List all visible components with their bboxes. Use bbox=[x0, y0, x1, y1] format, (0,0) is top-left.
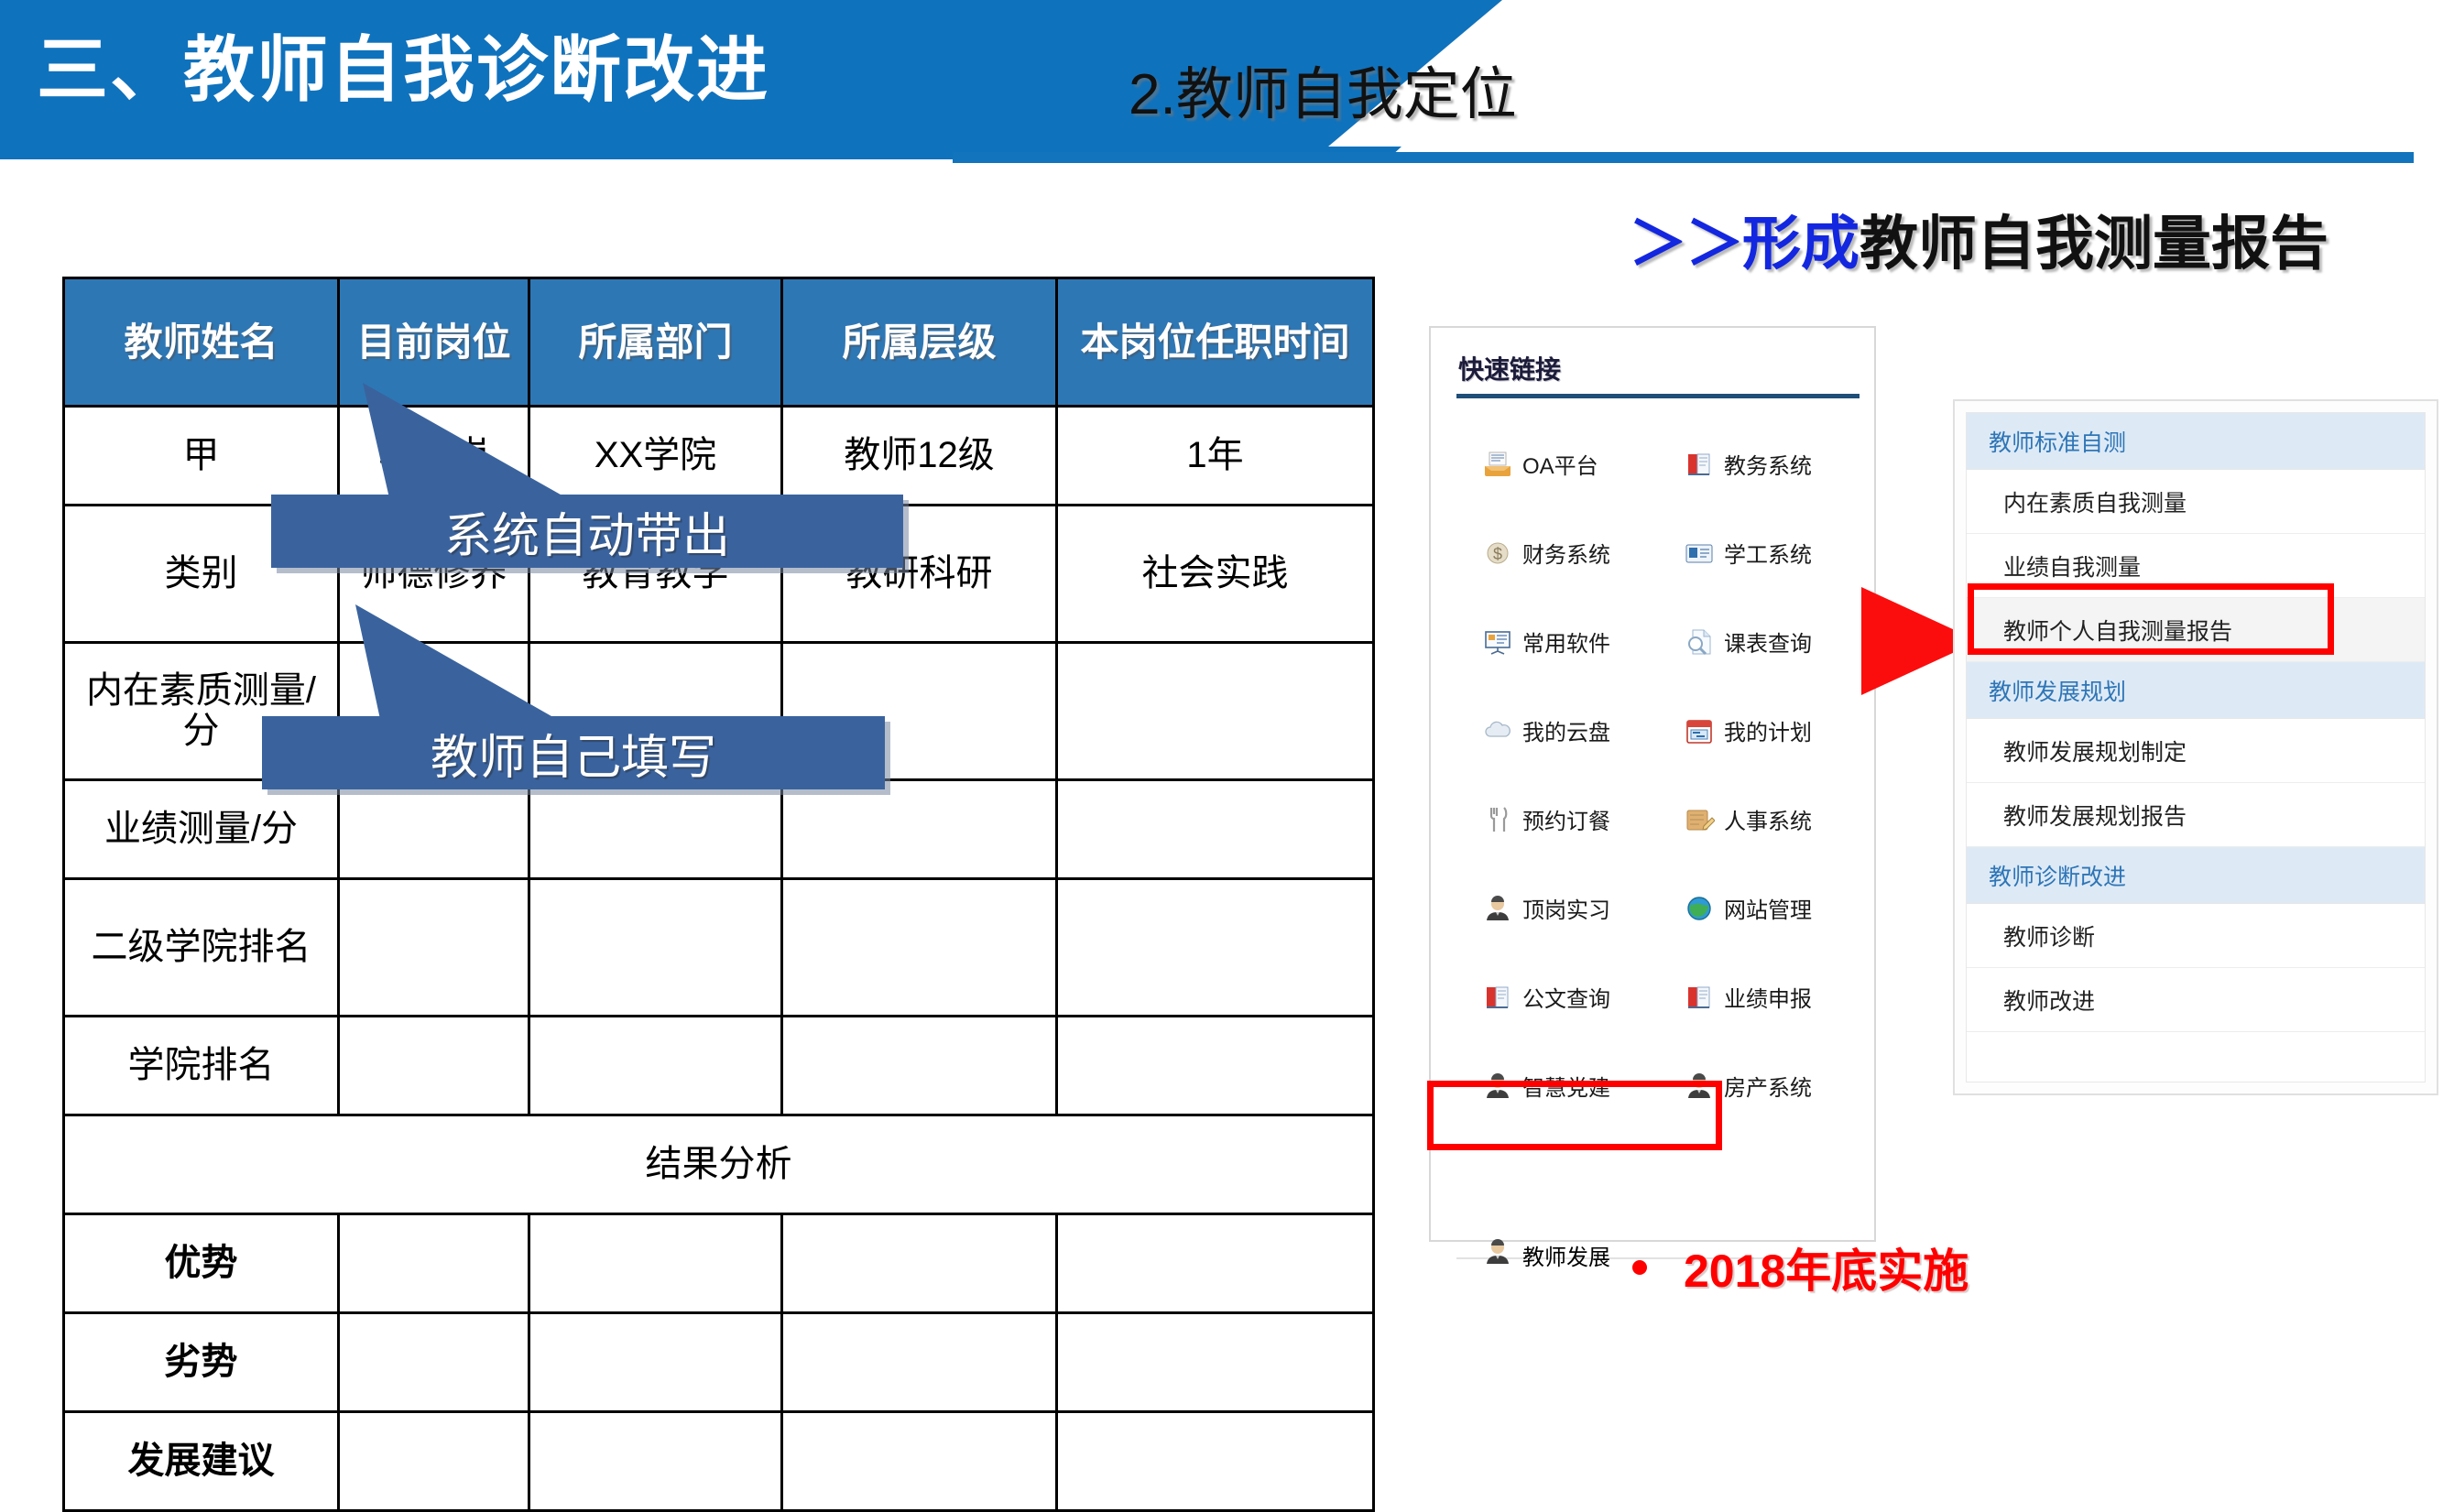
money-icon: $ bbox=[1482, 538, 1513, 569]
quick-link-meal[interactable]: 预约订餐 bbox=[1456, 775, 1658, 864]
magnifier-doc-icon bbox=[1684, 626, 1715, 658]
heading-black-part: 教师自我测量报告 bbox=[1860, 211, 2328, 277]
quick-link-oa[interactable]: OA平台 bbox=[1456, 419, 1658, 508]
book-icon bbox=[1684, 982, 1715, 1013]
quick-link-internship[interactable]: 顶岗实习 bbox=[1456, 864, 1658, 952]
callout-system-auto: 系统自动带出 bbox=[271, 383, 912, 566]
cell[interactable] bbox=[1057, 780, 1374, 879]
person-icon bbox=[1482, 893, 1513, 924]
bullet-dot-icon bbox=[1632, 1260, 1647, 1275]
cell[interactable] bbox=[782, 1313, 1057, 1412]
cell[interactable] bbox=[782, 1017, 1057, 1115]
bullet-note-text: 2018年底实施 bbox=[1684, 1235, 1969, 1300]
quick-link-performance-report[interactable]: 业绩申报 bbox=[1658, 952, 1860, 1041]
quick-link-label: 教务系统 bbox=[1724, 448, 1812, 480]
menu-item-development-plan-create[interactable]: 教师发展规划制定 bbox=[1967, 719, 2425, 783]
row-label: 二级学院排名 bbox=[64, 879, 339, 1017]
bullet-note: 2018年底实施 bbox=[1632, 1235, 1969, 1300]
callout-label: 系统自动带出 bbox=[271, 495, 903, 568]
menu-item-label: 教师诊断 bbox=[2003, 919, 2095, 952]
book-icon bbox=[1684, 449, 1715, 480]
menu-item-label: 业绩自我测量 bbox=[2003, 549, 2141, 582]
menu-group-label: 教师发展规划 bbox=[1989, 674, 2126, 707]
header-rule bbox=[953, 152, 2414, 163]
menu-group-diagnosis-improvement[interactable]: 教师诊断改进 bbox=[1967, 847, 2425, 904]
cell[interactable] bbox=[782, 879, 1057, 1017]
quick-link-document-search[interactable]: 公文查询 bbox=[1456, 952, 1658, 1041]
cell[interactable] bbox=[529, 1214, 782, 1313]
quick-link-cloud[interactable]: 我的云盘 bbox=[1456, 686, 1658, 775]
quick-link-label: 人事系统 bbox=[1724, 803, 1812, 835]
menu-item-teacher-improvement[interactable]: 教师改进 bbox=[1967, 968, 2425, 1032]
cell[interactable] bbox=[1057, 1017, 1374, 1115]
menu-group-label: 教师标准自测 bbox=[1989, 425, 2126, 458]
cell[interactable] bbox=[339, 1017, 529, 1115]
table-row: 二级学院排名 bbox=[64, 879, 1374, 1017]
cell[interactable] bbox=[339, 879, 529, 1017]
cell[interactable] bbox=[1057, 1214, 1374, 1313]
table-row: 劣势 bbox=[64, 1313, 1374, 1412]
menu-group-development-plan[interactable]: 教师发展规划 bbox=[1967, 662, 2425, 719]
double-chevron-icon: ＞＞ bbox=[1629, 211, 1742, 277]
quick-link-website-admin[interactable]: 网站管理 bbox=[1658, 864, 1860, 952]
id-card-icon bbox=[1684, 538, 1715, 569]
cloud-icon bbox=[1482, 715, 1513, 746]
quick-link-plan[interactable]: 我的计划 bbox=[1658, 686, 1860, 775]
cell[interactable] bbox=[339, 1412, 529, 1511]
slide-header: 三、教师自我诊断改进 2.教师自我定位 bbox=[0, 0, 2443, 183]
callout-label: 教师自己填写 bbox=[262, 716, 885, 789]
quick-link-label: 预约订餐 bbox=[1522, 803, 1610, 835]
quick-links-underline bbox=[1456, 394, 1860, 398]
quick-link-label: 公文查询 bbox=[1522, 981, 1610, 1013]
cell[interactable] bbox=[782, 1214, 1057, 1313]
table-row: 发展建议 bbox=[64, 1412, 1374, 1511]
page-title: 三、教师自我诊断改进 bbox=[37, 15, 861, 125]
cell[interactable] bbox=[339, 780, 529, 879]
mail-tray-icon bbox=[1482, 449, 1513, 480]
svg-text:$: $ bbox=[1493, 545, 1502, 563]
quick-link-student-affairs[interactable]: 学工系统 bbox=[1658, 508, 1860, 597]
heading-blue-part: 形成 bbox=[1742, 211, 1860, 277]
cell[interactable] bbox=[1057, 1412, 1374, 1511]
menu-group-standard-self-test[interactable]: 教师标准自测 bbox=[1967, 413, 2425, 470]
callout-teacher-fills: 教师自己填写 bbox=[262, 604, 903, 788]
calendar-icon bbox=[1684, 715, 1715, 746]
cell: 社会实践 bbox=[1057, 506, 1374, 643]
menu-group-label: 教师诊断改进 bbox=[1989, 859, 2126, 892]
row-label: 学院排名 bbox=[64, 1017, 339, 1115]
table-row: 学院排名 bbox=[64, 1017, 1374, 1115]
quick-link-label: 业绩申报 bbox=[1724, 981, 1812, 1013]
menu-list: 教师标准自测 内在素质自我测量 业绩自我测量 教师个人自我测量报告 教师发展规划… bbox=[1966, 412, 2426, 1082]
column-header: 本岗位任职时间 bbox=[1057, 278, 1374, 407]
cell[interactable] bbox=[529, 1017, 782, 1115]
cell[interactable] bbox=[782, 1412, 1057, 1511]
menu-item-inner-quality-self-measure[interactable]: 内在素质自我测量 bbox=[1967, 470, 2425, 534]
menu-item-label: 教师发展规划报告 bbox=[2003, 799, 2187, 832]
cell[interactable] bbox=[1057, 1313, 1374, 1412]
teacher-development-menu-panel: 教师标准自测 内在素质自我测量 业绩自我测量 教师个人自我测量报告 教师发展规划… bbox=[1953, 399, 2438, 1095]
right-section-heading: ＞＞形成教师自我测量报告 bbox=[1629, 197, 2328, 281]
quick-link-label: 顶岗实习 bbox=[1522, 892, 1610, 924]
cell: 1年 bbox=[1057, 407, 1374, 506]
menu-item-label: 教师发展规划制定 bbox=[2003, 734, 2187, 767]
row-label: 业绩测量/分 bbox=[64, 780, 339, 879]
table-row: 业绩测量/分 bbox=[64, 780, 1374, 879]
quick-link-label: 教师发展 bbox=[1522, 1239, 1610, 1271]
fork-knife-icon bbox=[1482, 804, 1513, 835]
quick-link-label: 课表查询 bbox=[1724, 625, 1812, 658]
quick-link-label: 我的计划 bbox=[1724, 714, 1812, 746]
page-subtitle: 2.教师自我定位 bbox=[1129, 48, 1517, 130]
quick-links-grid: OA平台 教务系统 $ 财务系统 学工系统 常用软件 bbox=[1456, 419, 1860, 1130]
cell[interactable] bbox=[339, 1313, 529, 1412]
note-pencil-icon bbox=[1684, 804, 1715, 835]
quick-link-timetable[interactable]: 课表查询 bbox=[1658, 597, 1860, 686]
quick-link-label: OA平台 bbox=[1522, 448, 1598, 480]
menu-item-teacher-diagnosis[interactable]: 教师诊断 bbox=[1967, 904, 2425, 968]
cell[interactable] bbox=[1057, 879, 1374, 1017]
cell[interactable] bbox=[529, 879, 782, 1017]
quick-link-label: 常用软件 bbox=[1522, 625, 1610, 658]
book-icon bbox=[1482, 982, 1513, 1013]
globe-icon bbox=[1684, 893, 1715, 924]
cell[interactable] bbox=[339, 1214, 529, 1313]
quick-link-label: 房产系统 bbox=[1724, 1070, 1812, 1102]
section-label: 结果分析 bbox=[64, 1115, 1374, 1214]
quick-link-finance[interactable]: $ 财务系统 bbox=[1456, 508, 1658, 597]
table-section-row: 结果分析 bbox=[64, 1115, 1374, 1214]
menu-item-development-plan-report[interactable]: 教师发展规划报告 bbox=[1967, 783, 2425, 847]
quick-link-software[interactable]: 常用软件 bbox=[1456, 597, 1658, 686]
table-row: 优势 bbox=[64, 1214, 1374, 1313]
quick-link-label: 财务系统 bbox=[1522, 537, 1610, 569]
quick-links-title: 快速链接 bbox=[1458, 350, 1561, 386]
quick-link-hr[interactable]: 人事系统 bbox=[1658, 775, 1860, 864]
cell[interactable] bbox=[529, 780, 782, 879]
quick-link-label: 网站管理 bbox=[1724, 892, 1812, 924]
menu-item-label: 内在素质自我测量 bbox=[2003, 485, 2187, 518]
cell[interactable] bbox=[1057, 643, 1374, 780]
cell[interactable] bbox=[529, 1313, 782, 1412]
cell[interactable] bbox=[782, 780, 1057, 879]
quick-link-label: 我的云盘 bbox=[1522, 714, 1610, 746]
quick-link-label: 学工系统 bbox=[1724, 537, 1812, 569]
row-label-suggestion: 发展建议 bbox=[64, 1412, 339, 1511]
highlight-box-teacher-development bbox=[1427, 1081, 1722, 1150]
row-label-advantage: 优势 bbox=[64, 1214, 339, 1313]
row-label-disadvantage: 劣势 bbox=[64, 1313, 339, 1412]
menu-item-label: 教师改进 bbox=[2003, 984, 2095, 1017]
cell[interactable] bbox=[529, 1412, 782, 1511]
highlight-box-self-measure-report bbox=[1968, 583, 2334, 655]
person-icon bbox=[1482, 1236, 1513, 1274]
quick-link-academic[interactable]: 教务系统 bbox=[1658, 419, 1860, 508]
presentation-icon bbox=[1482, 626, 1513, 658]
